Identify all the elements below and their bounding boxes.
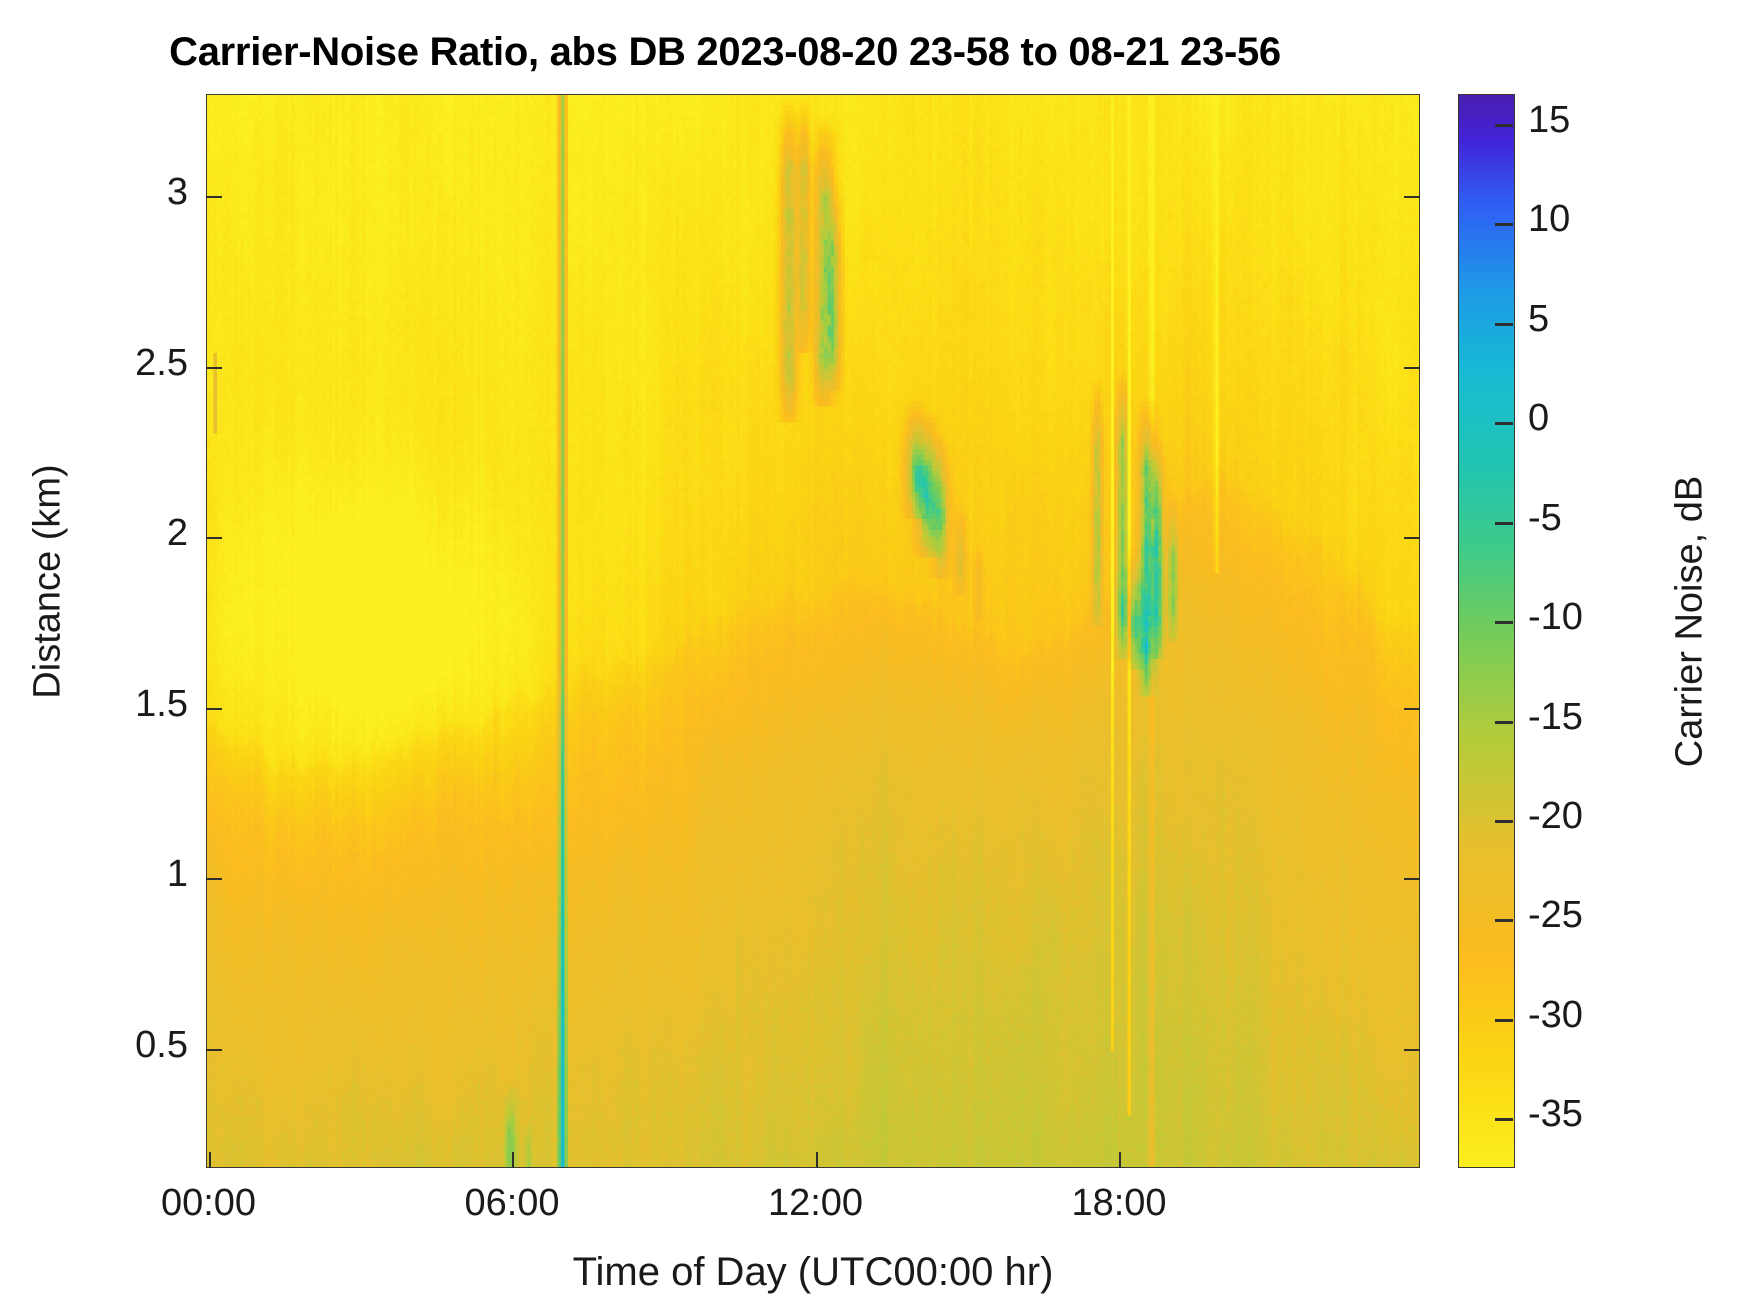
- y-tick-label: 1: [88, 853, 188, 896]
- colorbar-tick-mark: [1495, 621, 1513, 624]
- x-tick-mark: [816, 1152, 818, 1168]
- colorbar-tick-mark: [1495, 1019, 1513, 1022]
- page-title: Carrier-Noise Ratio, abs DB 2023-08-20 2…: [0, 30, 1450, 75]
- colorbar-tick-label: -20: [1528, 795, 1648, 838]
- colorbar-tick-mark: [1495, 919, 1513, 922]
- y-tick-mark: [206, 196, 222, 198]
- colorbar-tick-label: 5: [1528, 298, 1648, 341]
- colorbar-tick-mark: [1495, 721, 1513, 724]
- x-tick-mark: [512, 1152, 514, 1168]
- colorbar-tick-label: 10: [1528, 198, 1648, 241]
- y-tick-label: 2: [88, 512, 188, 555]
- y-tick-label: 1.5: [88, 683, 188, 726]
- y-tick-label: 3: [88, 171, 188, 214]
- x-tick-label: 12:00: [706, 1182, 926, 1225]
- y-axis-label: Distance (km): [27, 302, 70, 862]
- y-tick-mark: [206, 878, 222, 880]
- x-tick-label: 00:00: [99, 1182, 319, 1225]
- y-tick-label: 0.5: [88, 1024, 188, 1067]
- heatmap-axes[interactable]: [206, 94, 1420, 1168]
- colorbar-tick-label: -5: [1528, 497, 1648, 540]
- y-tick-mark-right: [1404, 878, 1420, 880]
- colorbar-gradient: [1459, 95, 1515, 1168]
- x-tick-mark: [209, 1152, 211, 1168]
- y-tick-mark-right: [1404, 1049, 1420, 1051]
- y-tick-mark: [206, 708, 222, 710]
- colorbar-tick-label: -10: [1528, 596, 1648, 639]
- y-tick-mark: [206, 537, 222, 539]
- x-axis-label: Time of Day (UTC00:00 hr): [206, 1250, 1420, 1295]
- colorbar-tick-label: 15: [1528, 99, 1648, 142]
- colorbar-tick-mark: [1495, 124, 1513, 127]
- x-tick-mark: [1119, 1152, 1121, 1168]
- figure-canvas: Carrier-Noise Ratio, abs DB 2023-08-20 2…: [0, 0, 1750, 1313]
- y-tick-mark: [206, 367, 222, 369]
- colorbar-tick-label: -35: [1528, 1093, 1648, 1136]
- colorbar-tick-mark: [1495, 223, 1513, 226]
- colorbar-tick-label: 0: [1528, 397, 1648, 440]
- colorbar-tick-mark: [1495, 522, 1513, 525]
- colorbar-label: Carrier Noise, dB: [1669, 322, 1712, 922]
- y-tick-mark-right: [1404, 708, 1420, 710]
- y-tick-mark-right: [1404, 196, 1420, 198]
- y-tick-mark-right: [1404, 367, 1420, 369]
- colorbar-tick-mark: [1495, 422, 1513, 425]
- colorbar-tick-mark: [1495, 820, 1513, 823]
- x-tick-label: 06:00: [402, 1182, 622, 1225]
- y-tick-mark-right: [1404, 537, 1420, 539]
- colorbar-tick-label: -15: [1528, 696, 1648, 739]
- x-tick-label: 18:00: [1009, 1182, 1229, 1225]
- colorbar-tick-mark: [1495, 323, 1513, 326]
- y-tick-mark: [206, 1049, 222, 1051]
- colorbar-tick-mark: [1495, 1118, 1513, 1121]
- colorbar-tick-label: -25: [1528, 894, 1648, 937]
- y-tick-label: 2.5: [88, 342, 188, 385]
- colorbar-tick-label: -30: [1528, 994, 1648, 1037]
- heatmap-image: [207, 95, 1420, 1168]
- colorbar[interactable]: [1458, 94, 1515, 1168]
